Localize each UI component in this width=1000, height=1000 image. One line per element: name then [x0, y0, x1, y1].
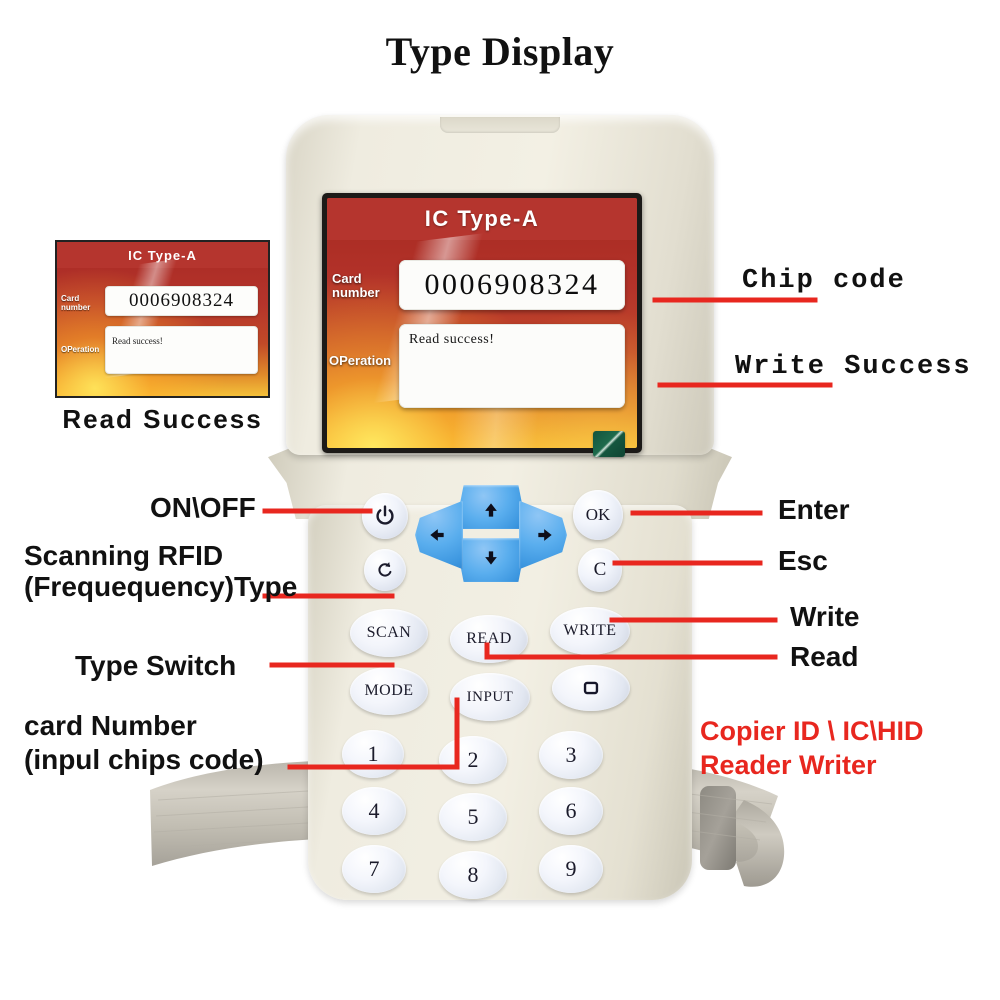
number-key-2-label: 2	[468, 747, 479, 773]
label-scanning-rfid-line2: (Frequequency)Type	[24, 571, 297, 603]
label-write: Write	[790, 601, 860, 633]
square-icon	[580, 677, 602, 699]
write-button-label: WRITE	[563, 622, 616, 640]
power-icon	[373, 504, 397, 528]
label-read: Read	[790, 641, 858, 673]
inset-card-number-field: 0006908324	[105, 286, 258, 316]
device-screen: IC Type-A Card number OPeration 00069083…	[327, 198, 637, 448]
back-arrow-icon	[374, 559, 396, 581]
label-write-success: Write Success	[735, 352, 972, 382]
left-arrow-icon	[427, 525, 447, 545]
dpad-up-button[interactable]	[455, 485, 527, 529]
power-button[interactable]	[362, 493, 408, 539]
inset-screen-thumbnail: IC Type-A Card number OPeration 00069083…	[55, 240, 270, 398]
screen-operation-field: Read success!	[399, 324, 625, 408]
product-name-line1: Copier ID \ IC\HID	[700, 716, 924, 747]
number-key-6[interactable]: 6	[539, 787, 603, 835]
input-button-label: INPUT	[467, 689, 514, 706]
inset-card-number-label: Card number	[61, 294, 105, 312]
number-key-3[interactable]: 3	[539, 731, 603, 779]
write-button[interactable]: WRITE	[550, 607, 630, 655]
number-key-8[interactable]: 8	[439, 851, 507, 899]
number-key-3-label: 3	[566, 742, 577, 768]
read-button-label: READ	[466, 630, 512, 648]
product-name-line2: Reader Writer	[700, 750, 877, 781]
clear-button-label: C	[594, 559, 607, 581]
number-key-6-label: 6	[566, 798, 577, 824]
inset-card-number-value: 0006908324	[129, 290, 234, 312]
input-button[interactable]: INPUT	[450, 673, 530, 721]
inset-caption: Read Success	[55, 404, 270, 435]
screen-operation-value: Read success!	[409, 332, 494, 347]
device-top-notch	[440, 117, 560, 133]
number-key-9-label: 9	[566, 856, 577, 882]
ok-button-label: OK	[586, 505, 611, 525]
number-key-1[interactable]: 1	[342, 730, 404, 778]
green-sticker	[593, 431, 625, 457]
number-key-8-label: 8	[468, 862, 479, 888]
screen-bezel: IC Type-A Card number OPeration 00069083…	[322, 193, 642, 453]
square-button[interactable]	[552, 665, 630, 711]
label-card-number-line1: card Number	[24, 710, 197, 742]
scan-button[interactable]: SCAN	[350, 609, 428, 657]
screen-operation-label: OPeration	[329, 354, 395, 368]
number-key-5[interactable]: 5	[439, 793, 507, 841]
screen-card-number-field: 0006908324	[399, 260, 625, 310]
inset-operation-field: Read success!	[105, 326, 258, 374]
up-arrow-icon	[481, 500, 501, 520]
dpad-down-button[interactable]	[455, 538, 527, 582]
number-key-9[interactable]: 9	[539, 845, 603, 893]
screen-card-number-label: Card number	[332, 272, 398, 300]
label-on-off: ON\OFF	[150, 492, 256, 524]
number-key-4[interactable]: 4	[342, 787, 406, 835]
ok-button[interactable]: OK	[573, 490, 623, 540]
inset-screen-header: IC Type-A	[57, 242, 268, 268]
screen-card-number-value: 0006908324	[425, 268, 600, 302]
number-key-2[interactable]: 2	[439, 736, 507, 784]
label-scanning-rfid-line1: Scanning RFID	[24, 540, 223, 572]
label-esc: Esc	[778, 545, 828, 577]
mode-button[interactable]: MODE	[350, 667, 428, 715]
screen-header-bar: IC Type-A	[327, 198, 637, 240]
label-chip-code: Chip code	[742, 266, 906, 296]
back-button[interactable]	[364, 549, 406, 591]
read-button[interactable]: READ	[450, 615, 528, 663]
mode-button-label: MODE	[364, 682, 413, 700]
label-type-switch: Type Switch	[75, 650, 236, 682]
inset-operation-label: OPeration	[61, 345, 105, 354]
screenshot-root: Type Display	[0, 0, 1000, 1000]
number-key-4-label: 4	[369, 798, 380, 824]
clear-button[interactable]: C	[578, 548, 622, 592]
number-key-7-label: 7	[369, 856, 380, 882]
label-enter: Enter	[778, 494, 850, 526]
scan-button-label: SCAN	[367, 624, 412, 642]
number-key-1-label: 1	[368, 741, 379, 767]
page-title: Type Display	[0, 28, 1000, 75]
rfid-copier-device: IC Type-A Card number OPeration 00069083…	[268, 115, 732, 895]
inset-operation-value: Read success!	[112, 336, 163, 346]
label-card-number-line2: (inpul chips code)	[24, 744, 264, 776]
number-key-5-label: 5	[468, 804, 479, 830]
right-arrow-icon	[535, 525, 555, 545]
down-arrow-icon	[481, 548, 501, 568]
number-key-7[interactable]: 7	[342, 845, 406, 893]
